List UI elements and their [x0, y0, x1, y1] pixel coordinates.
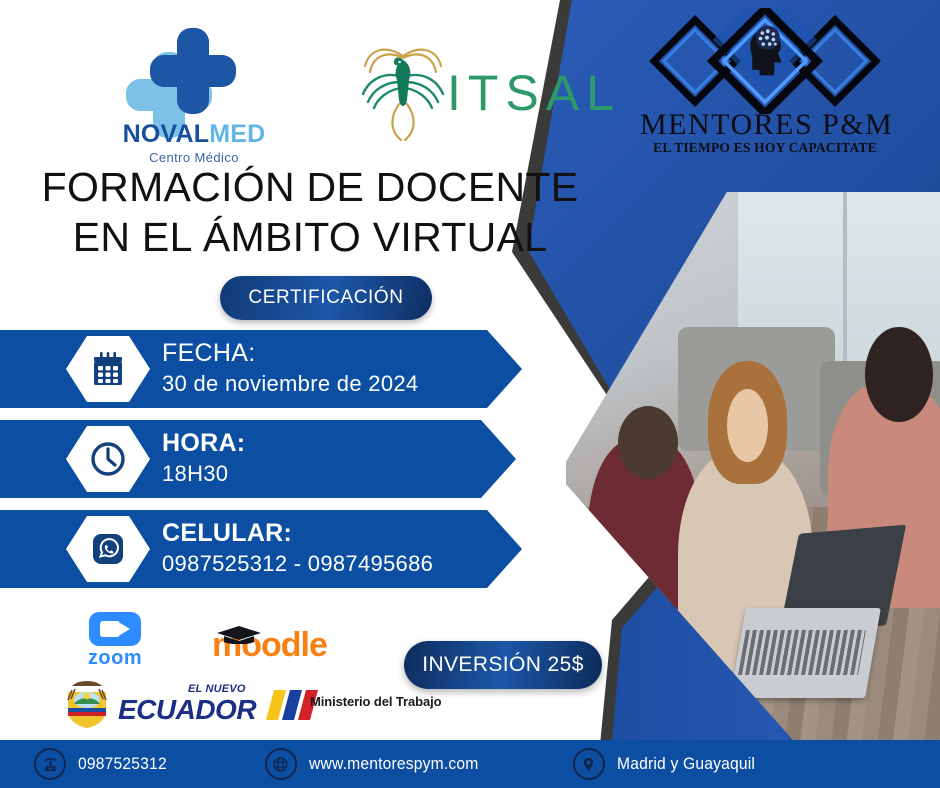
mentores-wordmark: MENTORES P&M [640, 108, 890, 142]
medical-cross-icon [150, 28, 236, 114]
footer-bar: 0987525312 www.mentorespym.com [0, 740, 940, 788]
info-label-celular: CELULAR: [162, 518, 433, 549]
logo-itsal: ITSAL [355, 38, 570, 148]
logo-moodle: moodle [212, 622, 362, 668]
page-title: FORMACIÓN DE DOCENTE EN EL ÁMBITO VIRTUA… [0, 162, 620, 262]
logo-zoom: zoom [76, 612, 154, 670]
headline-line-1: FORMACIÓN DE DOCENTE [42, 164, 579, 210]
globe-icon [265, 748, 297, 780]
zoom-wordmark: zoom [76, 647, 154, 670]
footer-contact-website[interactable]: www.mentorespym.com [265, 748, 493, 780]
gov-country-label: ECUADOR [118, 694, 256, 726]
certification-label: CERTIFICACIÓN [248, 287, 403, 309]
footer-website-text: www.mentorespym.com [309, 754, 478, 774]
info-value-fecha: 30 de noviembre de 2024 [162, 369, 418, 399]
itsal-wordmark: ITSAL [447, 64, 621, 122]
whatsapp-phone-icon [66, 516, 150, 582]
novalmed-word-part2: MED [209, 120, 265, 148]
info-row-celular: CELULAR: 0987525312 - 0987495686 [0, 510, 522, 588]
info-value-hora: 18H30 [162, 459, 245, 489]
investment-label: INVERSIÓN 25$ [422, 653, 584, 677]
graduation-cap-icon [214, 624, 264, 644]
clock-icon [66, 426, 150, 492]
headline-line-2: EN EL ÁMBITO VIRTUAL [0, 212, 620, 262]
ecuador-coat-of-arms-icon [64, 678, 110, 730]
students-photo [566, 192, 940, 754]
info-value-celular: 0987525312 - 0987495686 [162, 549, 433, 579]
video-camera-icon [89, 612, 141, 646]
info-label-fecha: FECHA: [162, 338, 418, 369]
footer-contact-phone: 0987525312 [34, 748, 175, 780]
novalmed-word-part1: NOVAL [123, 120, 210, 148]
footer-contact-location: Madrid y Guayaquil [573, 748, 767, 780]
info-label-hora: HORA: [162, 428, 245, 459]
diamonds-brain-head-icon [640, 8, 890, 114]
logo-novalmed: NOVALMED Centro Médico [104, 22, 284, 162]
logo-mentores-pm: MENTORES P&M EL TIEMPO ES HOY CAPACITATE [640, 8, 890, 160]
investment-badge: INVERSIÓN 25$ [404, 641, 602, 689]
novalmed-wordmark: NOVALMED [104, 120, 284, 149]
footer-phone-text: 0987525312 [78, 754, 167, 774]
promotional-flyer: NOVALMED Centro Médico [0, 0, 940, 788]
location-pin-icon [573, 748, 605, 780]
info-row-hora: HORA: 18H30 [0, 420, 516, 498]
logo-government-ecuador: EL NUEVO ECUADOR Ministerio del Trabajo [62, 678, 402, 730]
info-row-fecha: FECHA: 30 de noviembre de 2024 [0, 330, 522, 408]
mentores-tagline: EL TIEMPO ES HOY CAPACITATE [640, 140, 890, 156]
ministry-label: Ministerio del Trabajo [310, 694, 441, 709]
calendar-icon [66, 336, 150, 402]
footer-location-text: Madrid y Guayaquil [617, 754, 755, 774]
telephone-icon [34, 748, 66, 780]
certification-badge: CERTIFICACIÓN [220, 276, 432, 320]
phoenix-bird-icon [355, 38, 451, 142]
